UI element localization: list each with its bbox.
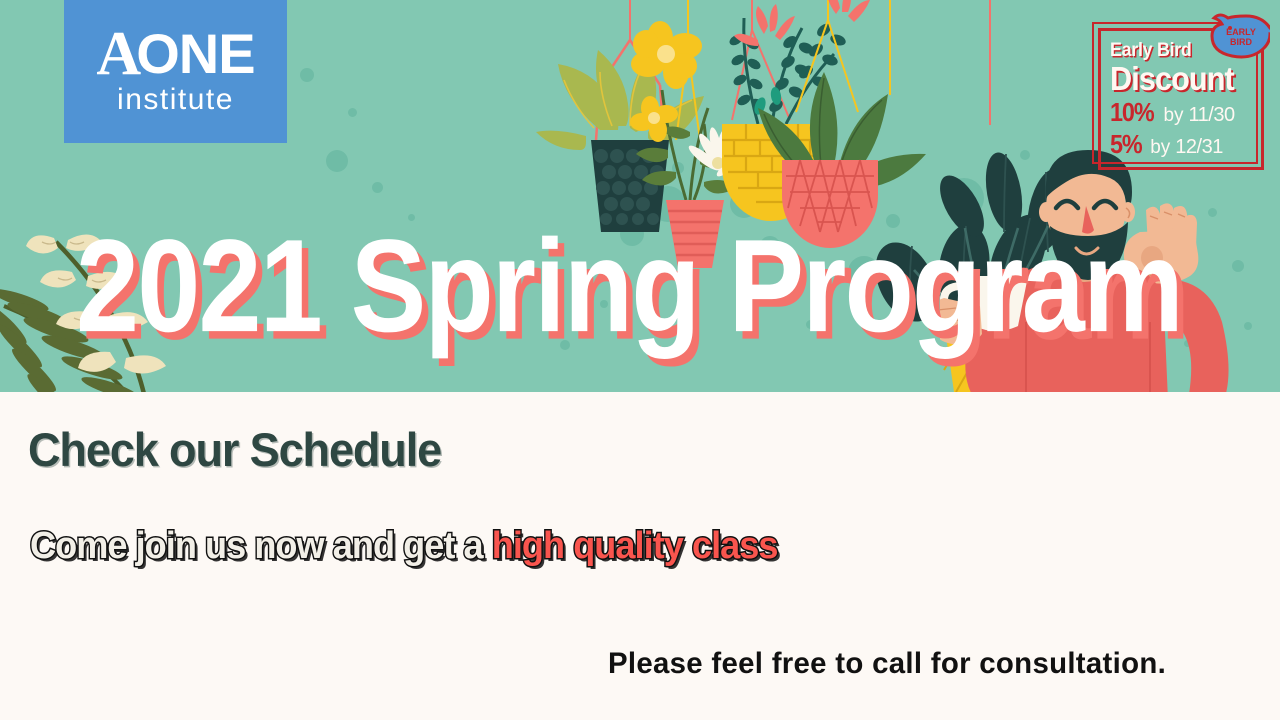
early-bird-discount-badge[interactable]: Early Bird Discount 10% by 11/30 5% by 1… bbox=[1092, 22, 1264, 170]
bird-text-bird: BIRD bbox=[1230, 37, 1252, 47]
tagline-plain-text: Come join us now and get a bbox=[30, 525, 492, 567]
discount-percent-1: 10% bbox=[1110, 97, 1154, 128]
discount-date-2: 12/31 bbox=[1175, 136, 1223, 159]
discount-percent-2: 5% bbox=[1110, 129, 1142, 160]
logo-subtitle: institute bbox=[117, 83, 234, 117]
aone-institute-logo[interactable]: AONE institute bbox=[64, 0, 287, 143]
discount-by-2: by bbox=[1150, 137, 1170, 159]
sub-heading: Check our Schedule bbox=[28, 422, 441, 477]
early-bird-icon: EARLY BIRD bbox=[1208, 10, 1270, 60]
discount-offer-row-2: 5% by 12/31 bbox=[1110, 129, 1254, 160]
discount-offer-row-1: 10% by 11/30 bbox=[1110, 97, 1254, 128]
logo-wordmark: AONE bbox=[96, 27, 254, 81]
lower-content-section: Check our Schedule Come join us now and … bbox=[0, 392, 1280, 720]
tagline-highlight-text: high quality class bbox=[492, 525, 778, 567]
tagline: Come join us now and get a high quality … bbox=[30, 525, 778, 568]
bird-text-early: EARLY bbox=[1226, 27, 1256, 37]
hero-section: AONE institute Early Bird Discount 10% b… bbox=[0, 0, 1280, 392]
discount-date-1: 11/30 bbox=[1189, 104, 1235, 127]
page-title: 2021 Spring Program bbox=[76, 222, 1182, 349]
badge-line-discount: Discount bbox=[1110, 62, 1244, 96]
discount-by-1: by bbox=[1163, 105, 1183, 127]
logo-a-mark: A bbox=[96, 27, 140, 81]
coral-flowers bbox=[734, 0, 870, 46]
logo-one-text: ONE bbox=[136, 27, 254, 81]
promo-banner: AONE institute Early Bird Discount 10% b… bbox=[0, 0, 1280, 720]
consultation-note: Please feel free to call for consultatio… bbox=[608, 647, 1166, 681]
